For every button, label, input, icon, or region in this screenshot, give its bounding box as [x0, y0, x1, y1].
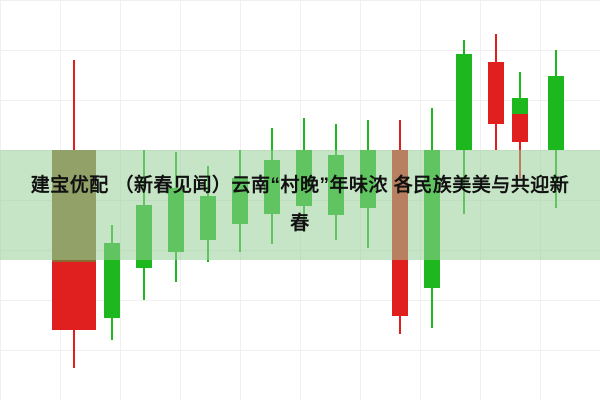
headline-overlay-band: 建宝优配 （新春见闻）云南“村晚”年味浓 各民族美美与共迎新春 — [0, 150, 600, 260]
headline-text: 建宝优配 （新春见闻）云南“村晚”年味浓 各民族美美与共迎新春 — [20, 167, 580, 243]
chart-screenshot: 建宝优配 （新春见闻）云南“村晚”年味浓 各民族美美与共迎新春 — [0, 0, 600, 400]
candle-body — [548, 76, 564, 150]
